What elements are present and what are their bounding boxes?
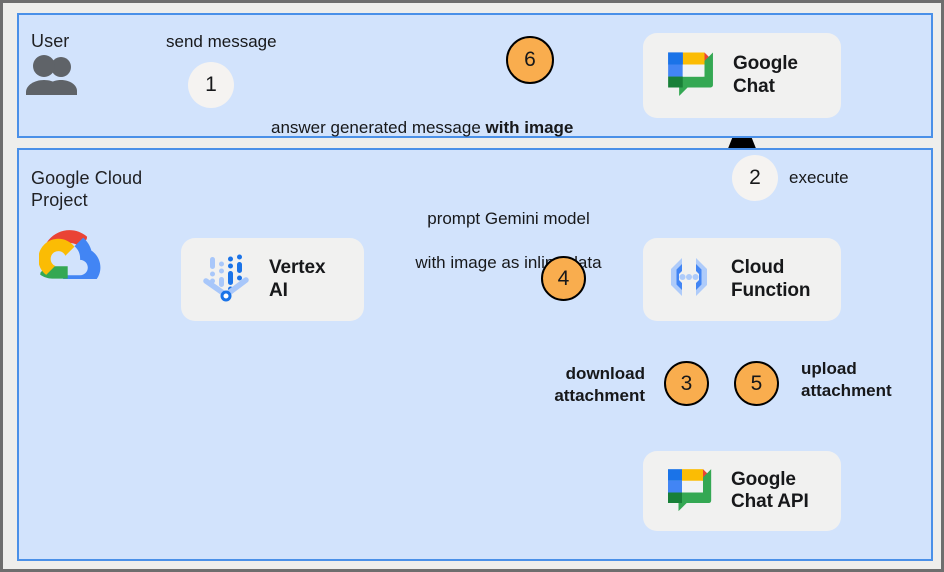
- google-chat-icon: [661, 461, 717, 522]
- label-prompt-regular: prompt Gemini model: [361, 208, 656, 230]
- node-google-chat[interactable]: Google Chat: [643, 33, 841, 118]
- step-5-badge: 5: [734, 361, 779, 406]
- google-chat-icon: [661, 44, 719, 107]
- panel-gcp-title: Google Cloud Project: [31, 168, 142, 212]
- cloud-function-icon: [661, 249, 717, 310]
- node-cloud-function[interactable]: Cloud Function: [643, 238, 841, 321]
- step-6-badge: 6: [506, 36, 554, 84]
- panel-user-title: User: [31, 31, 69, 53]
- label-prompt-bold: with image as inline data: [361, 252, 656, 274]
- label-answer-generated: answer generated message with image: [271, 95, 573, 139]
- users-icon: [25, 55, 81, 102]
- label-answer-bold: with image: [486, 118, 574, 137]
- label-download-attachment: download attachment: [463, 363, 645, 407]
- node-google-chat-label: Google Chat: [733, 53, 798, 98]
- google-cloud-icon: [39, 226, 105, 284]
- node-vertex-ai-label: Vertex AI: [269, 257, 325, 302]
- node-google-chat-api[interactable]: Google Chat API: [643, 451, 841, 531]
- step-4-badge: 4: [541, 256, 586, 301]
- label-upload-attachment: upload attachment: [801, 358, 941, 402]
- node-vertex-ai[interactable]: Vertex AI: [181, 238, 364, 321]
- label-prompt-gemini: prompt Gemini model with image as inline…: [361, 186, 656, 296]
- node-cloud-function-label: Cloud Function: [731, 257, 810, 302]
- label-answer-regular: answer generated message: [271, 118, 481, 137]
- step-2-badge: 2: [732, 155, 778, 201]
- vertex-ai-icon: [199, 249, 255, 310]
- label-execute: execute: [789, 167, 849, 189]
- step-1-badge: 1: [188, 62, 234, 108]
- node-google-chat-api-label: Google Chat API: [731, 469, 809, 514]
- step-3-badge: 3: [664, 361, 709, 406]
- architecture-diagram: User Goog: [0, 0, 944, 572]
- label-send-message: send message: [166, 31, 277, 53]
